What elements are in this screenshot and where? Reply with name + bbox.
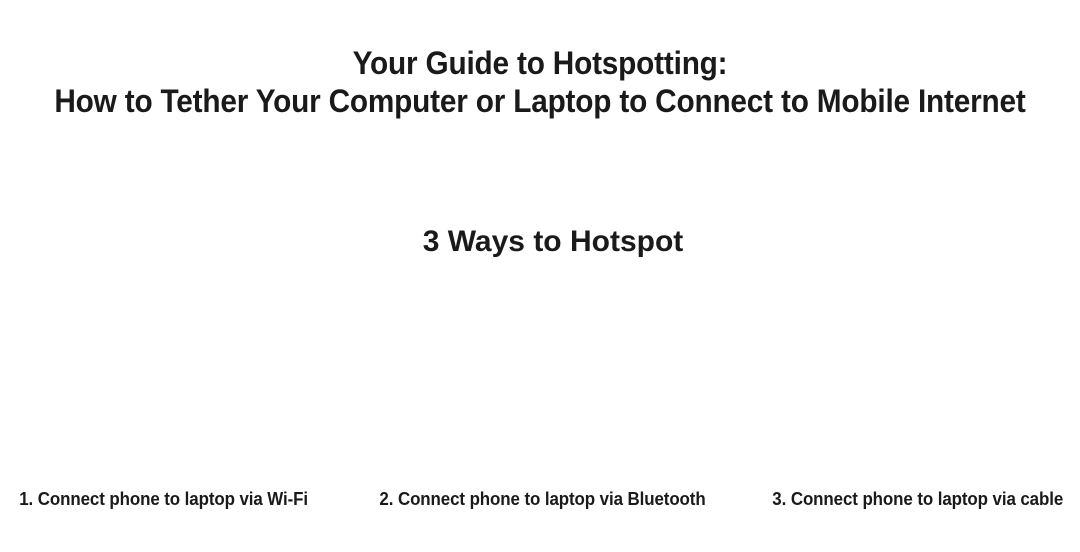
title-line-secondary: How to Tether Your Computer or Laptop to… xyxy=(38,82,1042,120)
step-caption-cable-text: 3. Connect phone to laptop via cable xyxy=(773,487,1064,511)
illustration-slot-bluetooth xyxy=(360,285,720,475)
illustration-slot-cable xyxy=(720,285,1080,475)
infographic-page: Your Guide to Hotspotting: How to Tether… xyxy=(0,0,1080,552)
step-caption-cable: 3. Connect phone to laptop via cable xyxy=(738,487,1080,511)
step-caption-wifi-text: 1. Connect phone to laptop via Wi-Fi xyxy=(20,487,309,511)
section-subtitle: 3 Ways to Hotspot xyxy=(0,223,1080,261)
step-caption-bluetooth-text: 2. Connect phone to laptop via Bluetooth xyxy=(379,487,705,511)
step-caption-wifi: 1. Connect phone to laptop via Wi-Fi xyxy=(0,487,344,511)
step-caption-row: 1. Connect phone to laptop via Wi-Fi 2. … xyxy=(0,487,1080,515)
title-line-primary: Your Guide to Hotspotting: xyxy=(38,44,1042,82)
step-caption-bluetooth: 2. Connect phone to laptop via Bluetooth xyxy=(362,487,722,511)
illustration-area xyxy=(0,285,1080,475)
page-title: Your Guide to Hotspotting: How to Tether… xyxy=(0,44,1080,120)
illustration-slot-wifi xyxy=(0,285,360,475)
section-subtitle-text: 3 Ways to Hotspot xyxy=(423,223,684,261)
